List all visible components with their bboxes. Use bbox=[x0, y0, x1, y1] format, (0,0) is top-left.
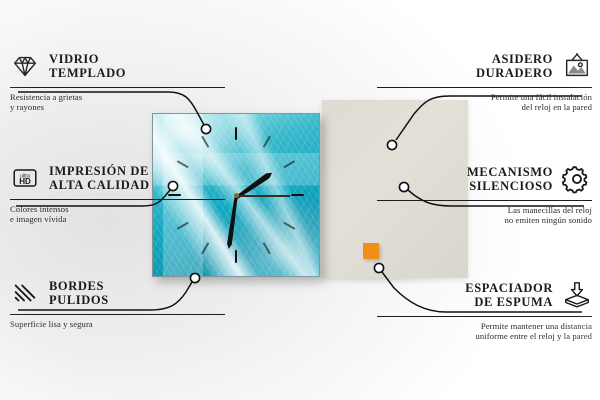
feature-vidrio-templado: VIDRIO TEMPLADO Resistencia a grietas y … bbox=[10, 48, 225, 113]
feature-description: Las manecillas del reloj no emiten ningú… bbox=[377, 205, 592, 226]
gear-icon bbox=[562, 164, 592, 194]
feature-mecanismo-silencioso: MECANISMO SILENCIOSO Las manecillas del … bbox=[377, 161, 592, 226]
feature-description: Permite una fácil instalación del reloj … bbox=[377, 92, 592, 113]
feature-asidero-duradero: ASIDERO DURADERO Permite una fácil insta… bbox=[377, 48, 592, 113]
feature-divider bbox=[377, 316, 592, 317]
feature-header: ESPACIADOR DE ESPUMA bbox=[377, 277, 592, 313]
feature-divider bbox=[10, 87, 225, 88]
feature-description: Permite mantener una distancia uniforme … bbox=[377, 321, 592, 342]
feature-header: VIDRIO TEMPLADO bbox=[10, 48, 225, 84]
feature-espaciador-de-espuma: ESPACIADOR DE ESPUMA Permite mantener un… bbox=[377, 277, 592, 342]
svg-text:HD: HD bbox=[19, 177, 31, 186]
feature-divider bbox=[377, 87, 592, 88]
feature-bordes-pulidos: BORDES PULIDOS Superficie lisa y segura bbox=[10, 275, 225, 329]
feature-title: BORDES PULIDOS bbox=[49, 279, 109, 308]
feature-divider bbox=[377, 200, 592, 201]
second-hand bbox=[236, 195, 290, 197]
feature-title: MECANISMO SILENCIOSO bbox=[467, 165, 553, 194]
foam-spacer-arrow-icon bbox=[562, 280, 592, 310]
foam-spacer-pad bbox=[363, 243, 379, 259]
wall-hanging-frame-icon bbox=[562, 51, 592, 81]
feature-divider bbox=[10, 314, 225, 315]
feature-header: ultra HD IMPRESIÓN DE ALTA CALIDAD bbox=[10, 160, 225, 196]
feature-description: Colores intensos e imagen vívida bbox=[10, 204, 225, 225]
polished-edges-icon bbox=[10, 278, 40, 308]
feature-divider bbox=[10, 199, 225, 200]
infographic-stage: VIDRIO TEMPLADO Resistencia a grietas y … bbox=[0, 0, 600, 400]
feature-title: VIDRIO TEMPLADO bbox=[49, 52, 126, 81]
feature-description: Superficie lisa y segura bbox=[10, 319, 225, 330]
feature-title: ESPACIADOR DE ESPUMA bbox=[465, 281, 553, 310]
diamond-icon bbox=[10, 51, 40, 81]
hands-center-cap bbox=[234, 193, 239, 198]
feature-header: BORDES PULIDOS bbox=[10, 275, 225, 311]
feature-header: MECANISMO SILENCIOSO bbox=[377, 161, 592, 197]
feature-title: IMPRESIÓN DE ALTA CALIDAD bbox=[49, 164, 150, 193]
feature-header: ASIDERO DURADERO bbox=[377, 48, 592, 84]
feature-description: Resistencia a grietas y rayones bbox=[10, 92, 225, 113]
feature-title: ASIDERO DURADERO bbox=[476, 52, 553, 81]
feature-impresion-alta-calidad: ultra HD IMPRESIÓN DE ALTA CALIDAD Color… bbox=[10, 160, 225, 225]
minute-hand bbox=[226, 197, 238, 249]
ultra-hd-badge-icon: ultra HD bbox=[10, 163, 40, 193]
